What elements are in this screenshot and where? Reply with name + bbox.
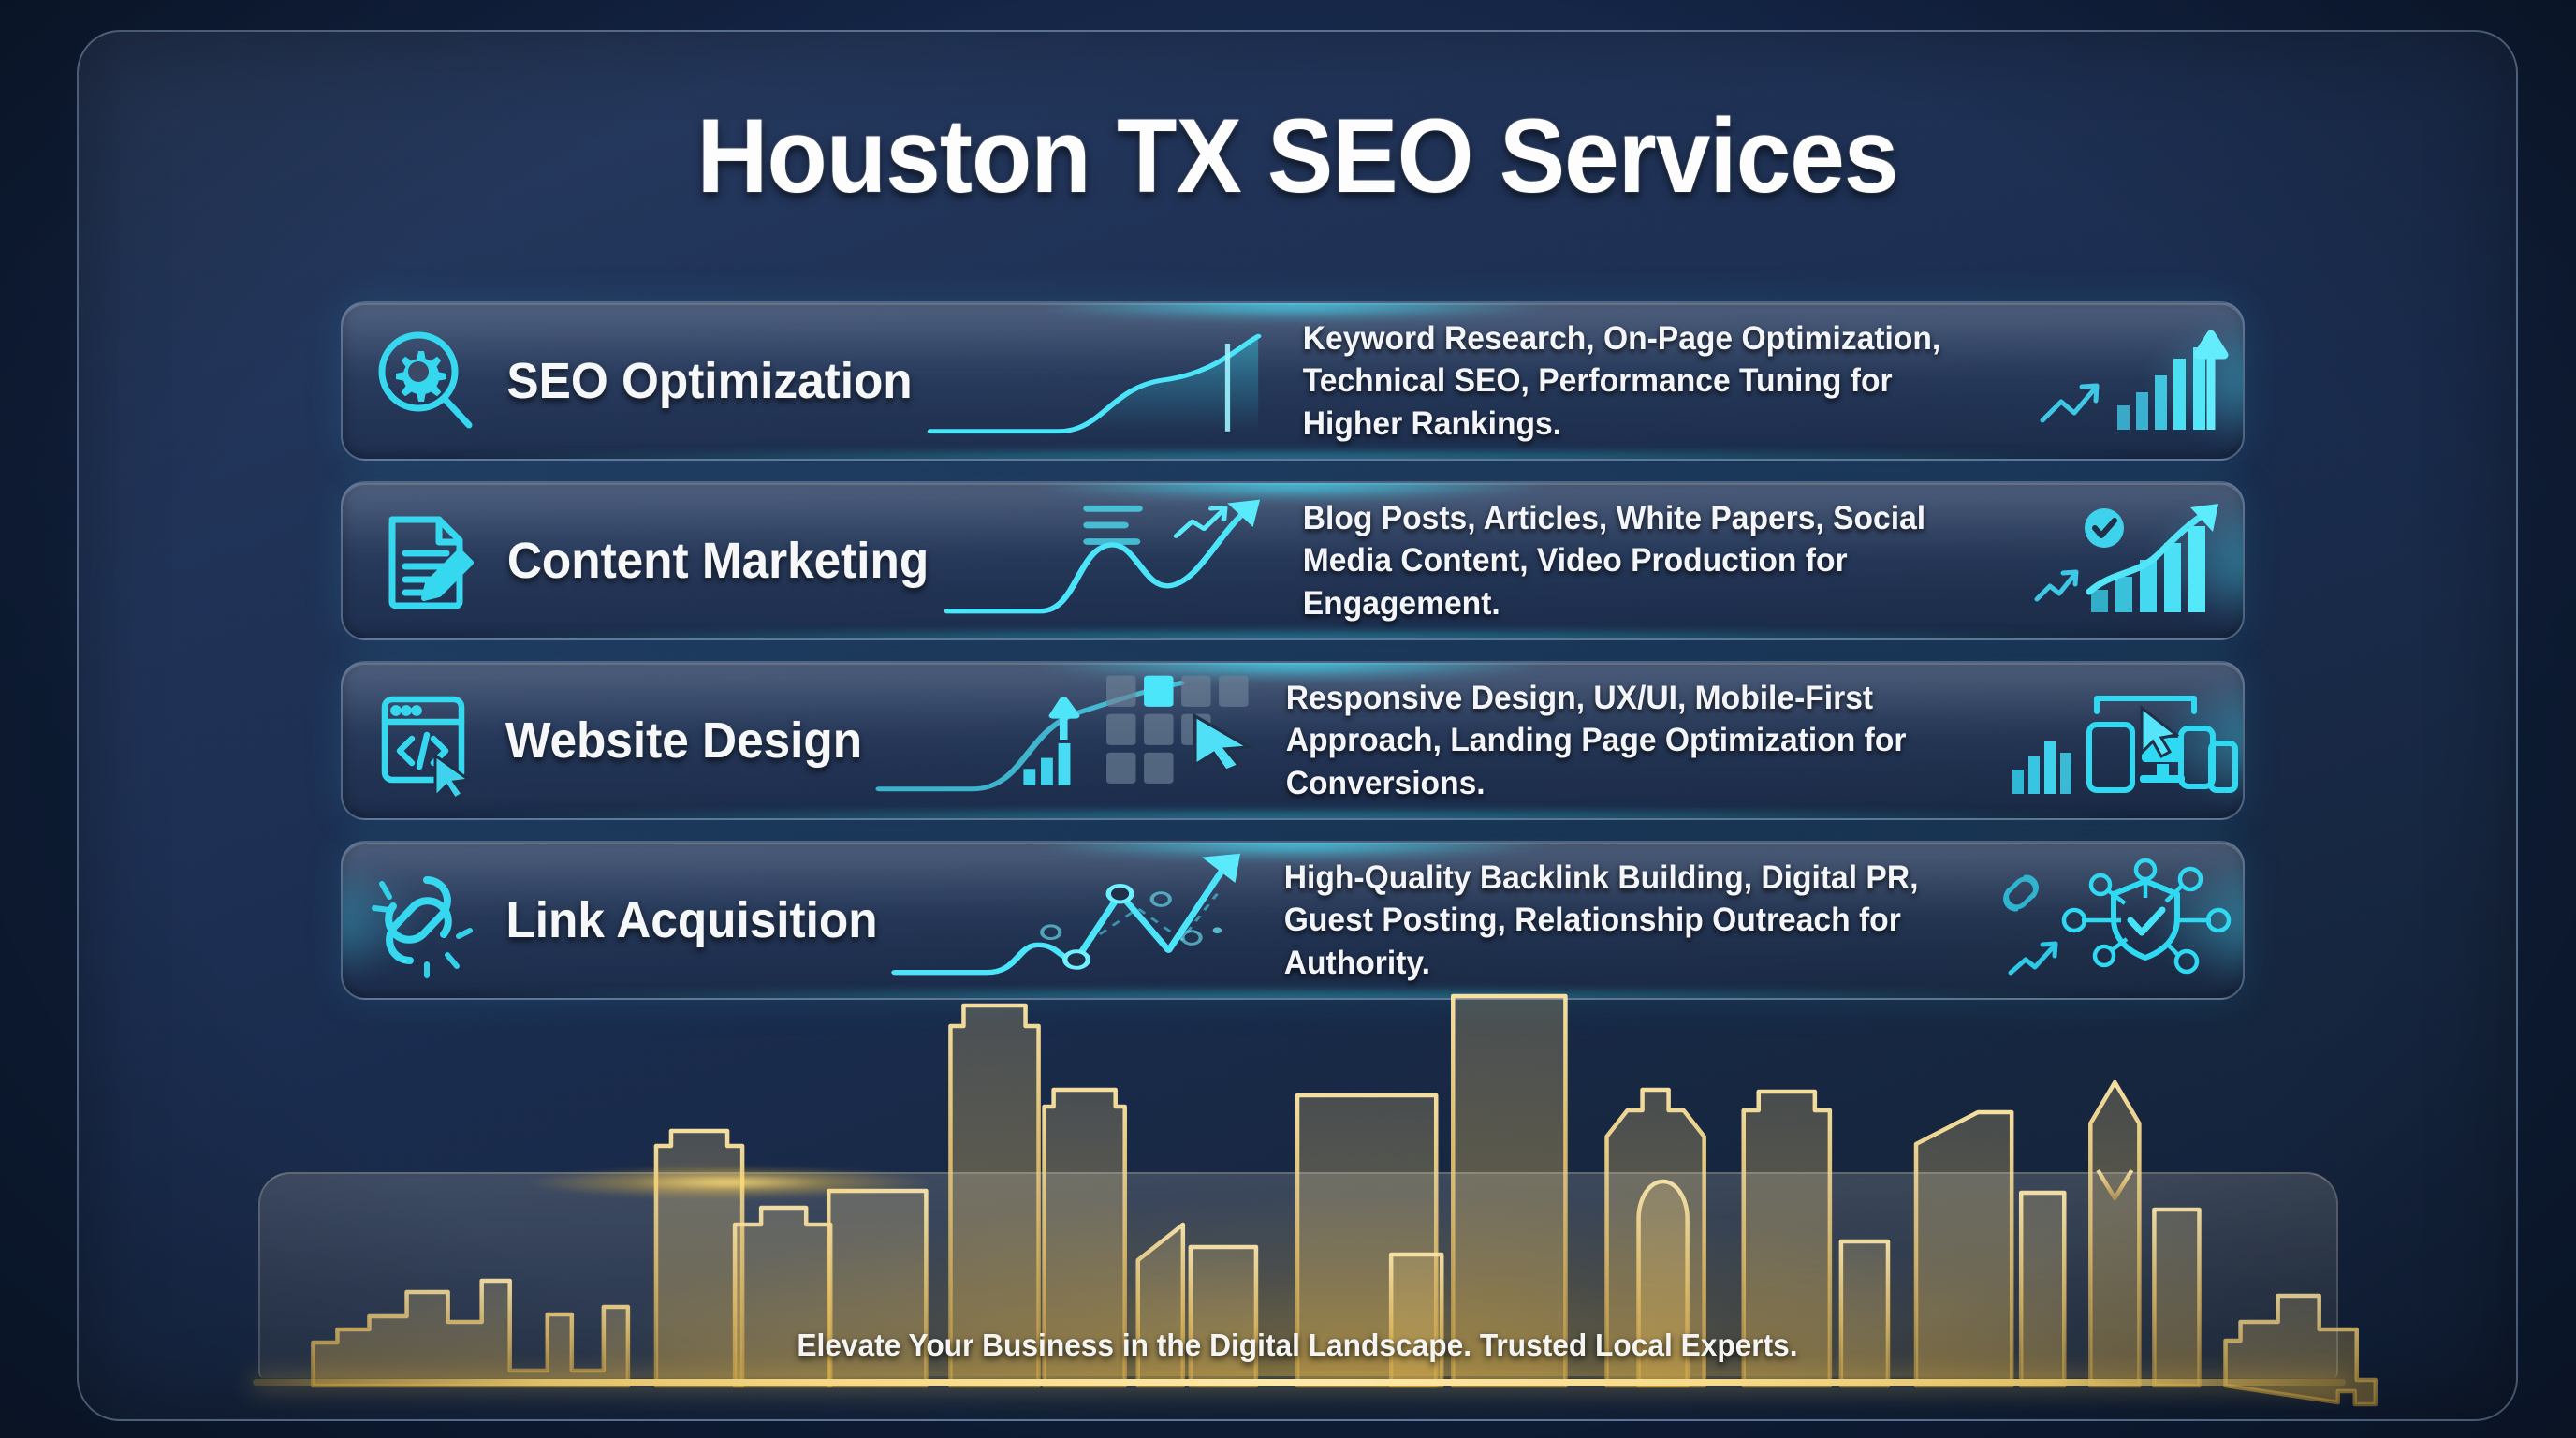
trend-arrow-icon (2037, 572, 2076, 599)
browser-code-cursor-icon (356, 680, 496, 801)
content-frame: Houston TX SEO Services (77, 30, 2518, 1421)
bar-chart-icon (1024, 699, 1076, 785)
service-card-content-marketing[interactable]: Content Marketing (341, 481, 2245, 640)
card-bottom-glow (457, 809, 2129, 820)
chain-link-icon (2006, 877, 2037, 909)
grid-cursor-chart (879, 663, 1281, 818)
service-title: Website Design (505, 712, 862, 770)
service-description: Responsive Design, UX/UI, Mobile-First A… (1281, 677, 1982, 805)
content-side-icons (2027, 499, 2243, 623)
service-description: Keyword Research, On-Page Optimization, … (1297, 317, 1998, 446)
service-card-website-design[interactable]: Website Design (341, 661, 2245, 820)
check-circle-icon (2085, 508, 2124, 548)
service-title: Content Marketing (507, 532, 929, 590)
houston-skyline-illustration: Elevate Your Business in the Digital Lan… (79, 923, 2516, 1419)
magnifier-gear-icon (356, 320, 496, 442)
bar-chart-arrow-icon (2117, 334, 2224, 430)
service-description: Blog Posts, Articles, White Papers, Soci… (1297, 497, 1998, 625)
trend-arrow-icon (2042, 386, 2097, 420)
service-card-seo-optimization[interactable]: SEO Optimization Keyw (341, 301, 2245, 461)
webdesign-side-icons (2011, 679, 2243, 802)
light-flare (528, 1167, 930, 1198)
ground-base-line (253, 1379, 2346, 1386)
services-list: SEO Optimization Keyw (341, 301, 2245, 1020)
infographic-canvas: Houston TX SEO Services (0, 0, 2576, 1438)
document-pencil-icon (356, 500, 496, 622)
page-title: Houston TX SEO Services (152, 95, 2443, 216)
wave-arrow-chart (947, 483, 1297, 638)
bar-chart-icon (2012, 741, 2071, 794)
rising-curve-chart (930, 303, 1297, 459)
service-title: SEO Optimization (506, 352, 912, 410)
footer-tagline: Elevate Your Business in the Digital Lan… (127, 1328, 2467, 1363)
seo-side-icons (2027, 319, 2243, 443)
